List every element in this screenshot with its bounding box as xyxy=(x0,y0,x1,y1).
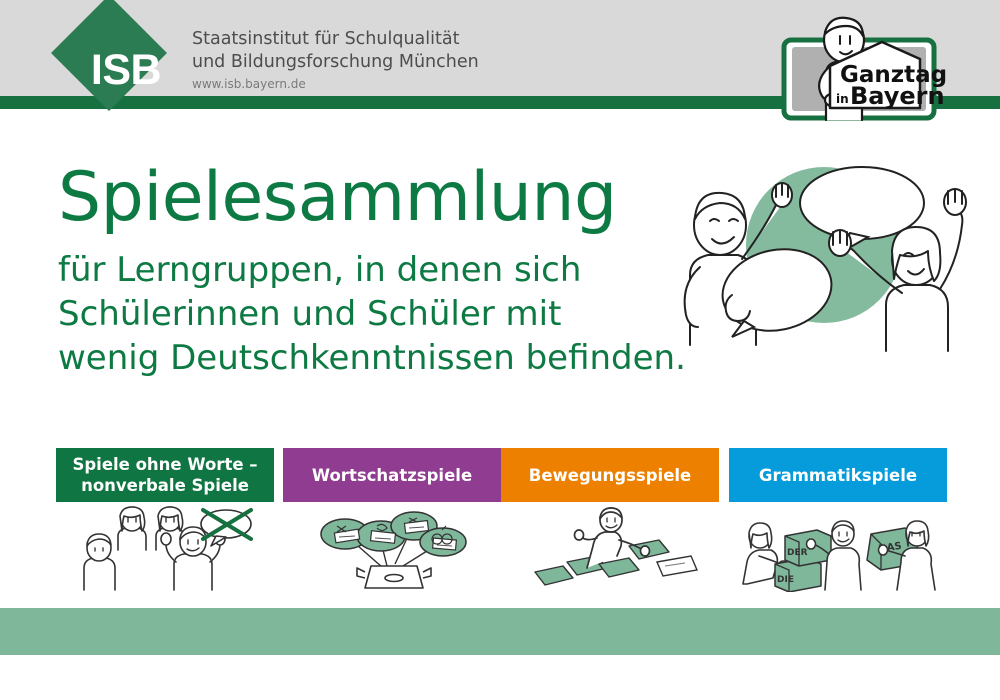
hero-illustration xyxy=(672,155,1000,370)
org-name-line-2: und Bildungsforschung München xyxy=(192,51,479,74)
subtitle-line-3: wenig Deutschkenntnissen befinden. xyxy=(58,336,758,380)
title-area: Spielesammlung für Lerngruppen, in denen… xyxy=(58,160,758,380)
page-title: Spielesammlung xyxy=(58,160,758,236)
ganztag-label-in: in xyxy=(836,92,849,106)
category-label-nonverbale-spiele[interactable]: Spiele ohne Worte – nonverbale Spiele xyxy=(56,448,274,502)
category-art-nonverbale-spiele xyxy=(56,506,274,592)
category-card-grammatikspiele[interactable]: Grammatikspiele DIE xyxy=(729,448,947,592)
subtitle-line-1: für Lerngruppen, in denen sich xyxy=(58,248,758,292)
article-block-label-der: DER xyxy=(787,548,808,558)
footer-bar xyxy=(0,608,1000,655)
article-block-label-die: DIE xyxy=(777,575,794,585)
category-card-wortschatzspiele[interactable]: Wortschatzspiele xyxy=(283,448,501,592)
category-label-wortschatzspiele[interactable]: Wortschatzspiele xyxy=(283,448,501,502)
category-card-nonverbale-spiele[interactable]: Spiele ohne Worte – nonverbale Spiele xyxy=(56,448,274,592)
category-label-grammatikspiele[interactable]: Grammatikspiele xyxy=(729,448,947,502)
organization-block: Staatsinstitut für Schulqualität und Bil… xyxy=(192,28,479,91)
page-subtitle: für Lerngruppen, in denen sich Schülerin… xyxy=(58,248,758,380)
category-card-bewegungsspiele[interactable]: Bewegungsspiele xyxy=(501,448,719,592)
isb-logo-text: ISB xyxy=(68,12,184,128)
ganztag-in-bayern-logo: Ganztag in Bayern xyxy=(770,12,970,124)
category-art-bewegungsspiele xyxy=(501,506,719,592)
category-art-grammatikspiele: DIE DER xyxy=(729,506,947,592)
org-website-url: www.isb.bayern.de xyxy=(192,77,479,91)
subtitle-line-2: Schülerinnen und Schüler mit xyxy=(58,292,758,336)
org-name-line-1: Staatsinstitut für Schulqualität xyxy=(192,28,479,51)
ganztag-label-line2: Bayern xyxy=(850,82,945,110)
category-label-bewegungsspiele[interactable]: Bewegungsspiele xyxy=(501,448,719,502)
category-art-wortschatzspiele xyxy=(283,506,501,592)
category-row: Spiele ohne Worte – nonverbale Spiele xyxy=(0,448,1000,598)
